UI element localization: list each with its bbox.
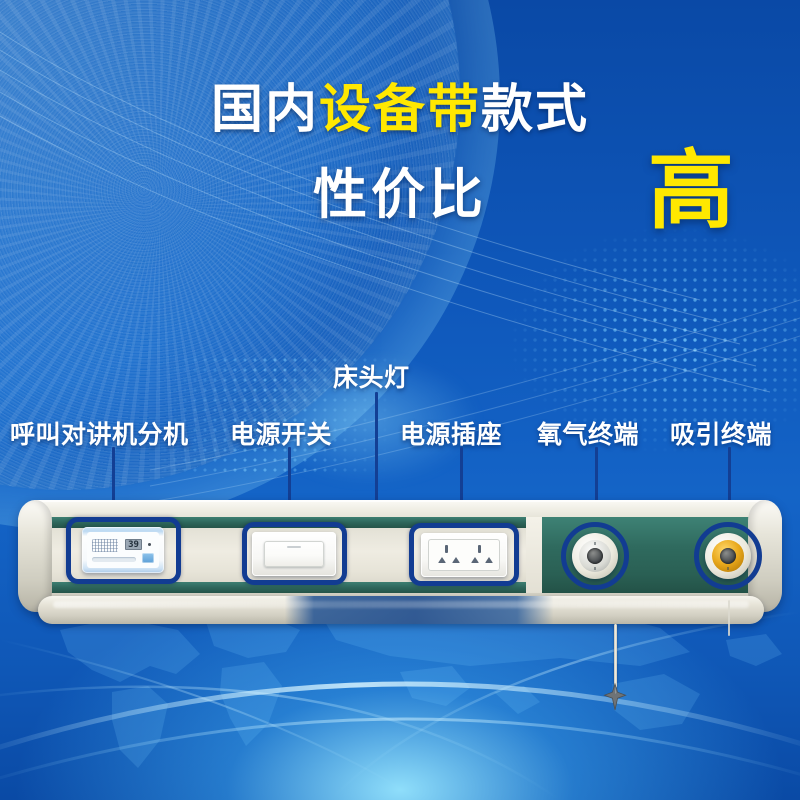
highlight-box-power-socket: [409, 523, 519, 586]
bed-lamp-highlight: [53, 601, 750, 608]
highlight-circle-suction: [694, 522, 762, 590]
callout-label-power-switch: 电源开关: [230, 415, 332, 451]
callout-label-intercom: 呼叫对讲机分机: [10, 415, 189, 451]
bed-lamp-tube: [38, 596, 764, 624]
callout-label-oxygen: 氧气终端: [537, 415, 639, 451]
headline-seg-1: 国内: [211, 84, 319, 136]
panel-end-cap-left: [18, 500, 52, 612]
headline-subtext: 性价比: [313, 165, 487, 225]
headline-seg-3: 款式: [481, 84, 589, 136]
headline-seg-2: 设备带: [319, 84, 481, 136]
lamp-pull-cord[interactable]: [614, 624, 617, 688]
lamp-pull-cord-secondary: [728, 600, 730, 636]
highlight-box-intercom: [66, 517, 181, 584]
headline-line-1: 国内设备带款式: [0, 84, 800, 136]
headline-emphasis-character: 高: [648, 148, 734, 234]
panel-white-divider: [526, 517, 542, 593]
callout-label-power-socket: 电源插座: [400, 415, 502, 451]
highlight-circle-oxygen: [561, 522, 629, 590]
callout-label-bed-lamp: 床头灯: [333, 358, 410, 394]
highlight-box-power-switch: [242, 522, 347, 585]
banner-canvas: 国内设备带款式 性价比 高 呼叫对讲机分机 电源开关 床头灯 电源插座 氧气终端…: [0, 0, 800, 800]
pull-cord-plug-icon[interactable]: [600, 682, 630, 712]
callout-label-suction: 吸引终端: [670, 415, 772, 451]
